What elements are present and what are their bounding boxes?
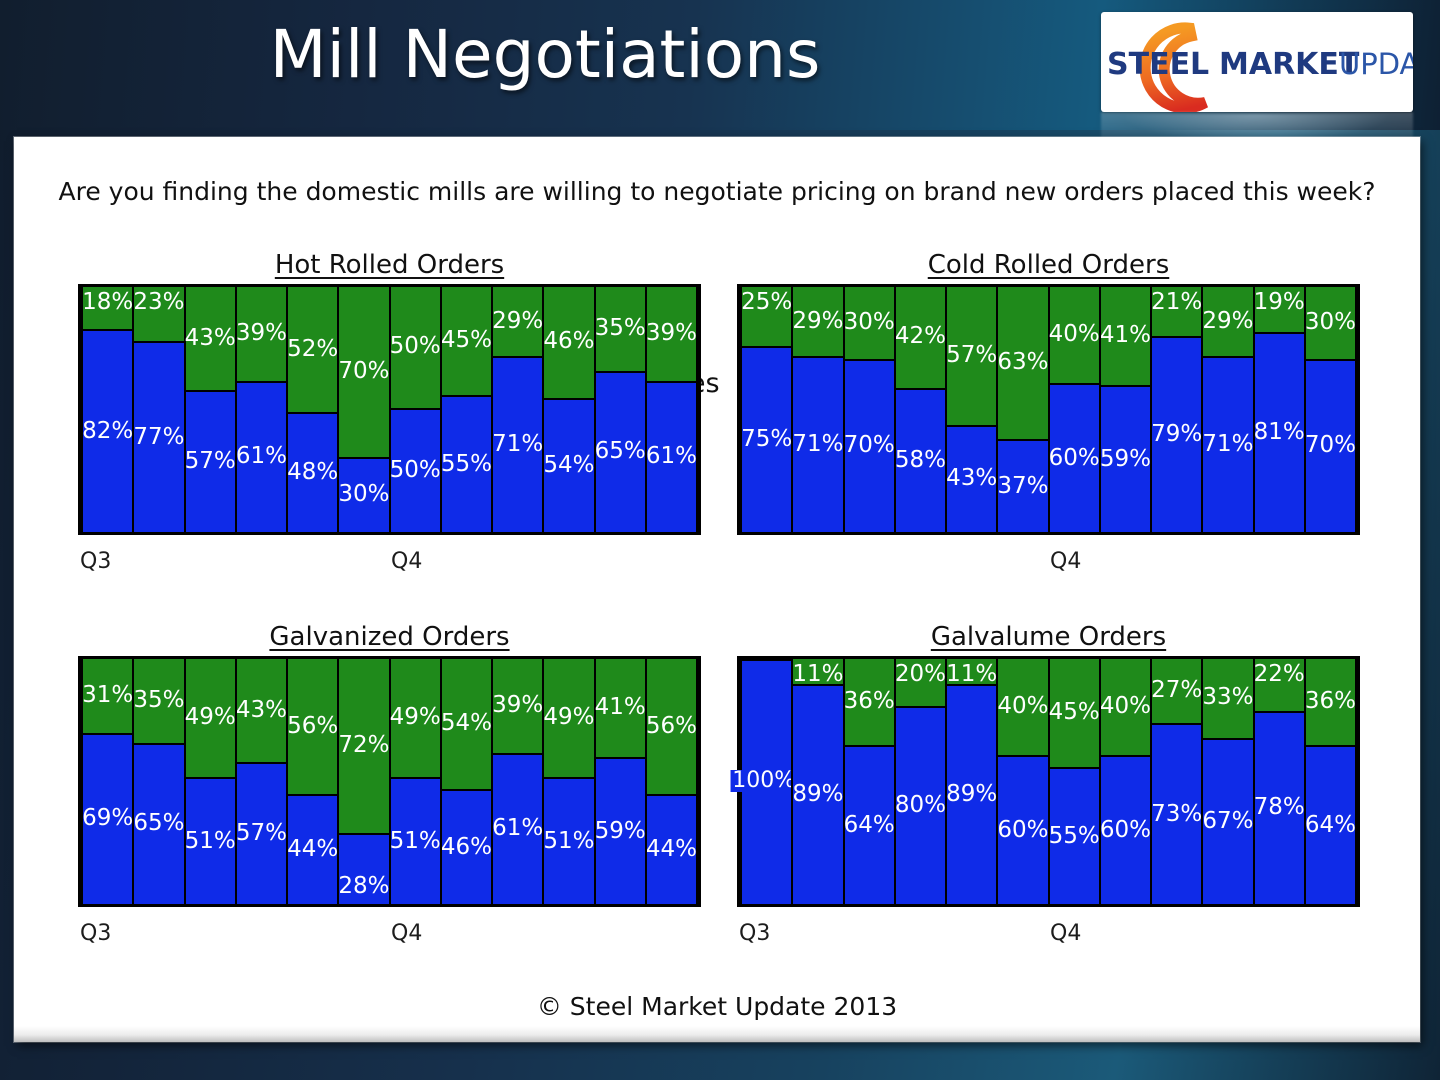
segment-no: 30% bbox=[339, 459, 388, 533]
bar-column: 39%61% bbox=[491, 659, 544, 904]
value-label-no: 67% bbox=[1202, 810, 1253, 833]
value-label-no: 71% bbox=[1202, 433, 1253, 456]
bar-column: 29%71% bbox=[791, 287, 844, 532]
segment-yes: 63% bbox=[998, 287, 1047, 441]
value-label-yes: 39% bbox=[236, 322, 287, 345]
plot-area: 31%69%35%65%49%51%43%57%56%44%72%28%49%5… bbox=[78, 656, 701, 907]
value-label-no: 73% bbox=[1151, 803, 1202, 826]
value-label-yes: 42% bbox=[895, 325, 946, 348]
segment-yes: 40% bbox=[1050, 287, 1099, 385]
bar-column: 70%30% bbox=[337, 287, 390, 532]
bar-column: 54%46% bbox=[440, 659, 493, 904]
segment-no: 46% bbox=[442, 791, 491, 904]
bar-column: 20%80% bbox=[894, 659, 947, 904]
value-label-no: 59% bbox=[595, 820, 646, 843]
chart-title: Galvanized Orders bbox=[78, 622, 701, 652]
value-label-no: 44% bbox=[287, 838, 338, 861]
value-label-no: 54% bbox=[543, 454, 594, 477]
value-label-no: 51% bbox=[390, 830, 441, 853]
bar-column: 39%61% bbox=[235, 287, 288, 532]
bar-column: 39%61% bbox=[645, 287, 698, 532]
chart-title: Cold Rolled Orders bbox=[737, 250, 1360, 280]
bar-column: 23%77% bbox=[132, 287, 185, 532]
value-label-yes: 46% bbox=[543, 330, 594, 353]
bar-column: 36%64% bbox=[1304, 659, 1357, 904]
value-label-no: 55% bbox=[1049, 825, 1100, 848]
bar-column: 50%50% bbox=[389, 287, 442, 532]
segment-yes: 43% bbox=[237, 659, 286, 764]
segment-yes: 36% bbox=[845, 659, 894, 747]
bar-column: 11%89% bbox=[791, 659, 844, 904]
value-label-yes: 29% bbox=[1202, 310, 1253, 333]
value-label-yes: 11% bbox=[792, 663, 843, 686]
segment-no: 71% bbox=[793, 358, 842, 532]
segment-no: 55% bbox=[442, 397, 491, 532]
segment-no: 54% bbox=[544, 400, 593, 532]
bar-column: 33%67% bbox=[1201, 659, 1254, 904]
value-label-no: 64% bbox=[844, 814, 895, 837]
value-label-no: 60% bbox=[997, 819, 1048, 842]
bar-column: 56%44% bbox=[286, 659, 339, 904]
segment-no: 78% bbox=[1255, 713, 1304, 904]
segment-yes: 39% bbox=[493, 659, 542, 755]
bar-column: 43%57% bbox=[184, 287, 237, 532]
value-label-yes: 30% bbox=[1305, 311, 1356, 334]
slide-header: Mill Negotiations STEEL MARKET UPDATE bbox=[0, 0, 1440, 130]
segment-yes: 11% bbox=[947, 659, 996, 686]
value-label-yes: 50% bbox=[390, 335, 441, 358]
segment-yes: 29% bbox=[493, 287, 542, 358]
segment-yes: 40% bbox=[998, 659, 1047, 757]
value-label-no: 75% bbox=[741, 428, 792, 451]
bar-column: 42%58% bbox=[894, 287, 947, 532]
segment-yes: 57% bbox=[947, 287, 996, 427]
axis-label-q3: Q3 bbox=[739, 921, 770, 946]
value-label-no: 100% bbox=[730, 770, 797, 792]
segment-yes: 45% bbox=[442, 287, 491, 397]
chart-galvanized-orders: Galvanized Orders 31%69%35%65%49%51%43%5… bbox=[78, 656, 701, 907]
segment-yes: 39% bbox=[237, 287, 286, 383]
bar-column: 31%69% bbox=[81, 659, 134, 904]
value-label-yes: 56% bbox=[287, 715, 338, 738]
bar-column: 30%70% bbox=[1304, 287, 1357, 532]
segment-no: 51% bbox=[391, 779, 440, 904]
plot-area: 100%11%89%36%64%20%80%11%89%40%60%45%55%… bbox=[737, 656, 1360, 907]
copyright-footer: © Steel Market Update 2013 bbox=[14, 992, 1420, 1021]
survey-question: Are you finding the domestic mills are w… bbox=[14, 177, 1420, 206]
segment-no: 75% bbox=[742, 348, 791, 532]
bar-column: 49%51% bbox=[389, 659, 442, 904]
bar-column: 49%51% bbox=[184, 659, 237, 904]
bar-column: 41%59% bbox=[1099, 287, 1152, 532]
value-label-yes: 20% bbox=[895, 663, 946, 686]
value-label-no: 78% bbox=[1254, 796, 1305, 819]
axis-label-q4: Q4 bbox=[1050, 921, 1081, 946]
value-label-yes: 57% bbox=[946, 344, 997, 367]
axis-label-q4: Q4 bbox=[391, 921, 422, 946]
segment-yes: 29% bbox=[1203, 287, 1252, 358]
segment-no: 79% bbox=[1152, 338, 1201, 532]
segment-yes: 72% bbox=[339, 659, 388, 835]
value-label-yes: 25% bbox=[741, 291, 792, 314]
segment-no: 61% bbox=[647, 383, 696, 532]
segment-no: 82% bbox=[83, 331, 132, 532]
segment-no: 50% bbox=[391, 410, 440, 533]
value-label-no: 82% bbox=[82, 420, 133, 443]
axis-label-q4: Q4 bbox=[1050, 549, 1081, 574]
segment-yes: 35% bbox=[596, 287, 645, 373]
segment-yes: 19% bbox=[1255, 287, 1304, 334]
segment-yes: 18% bbox=[83, 287, 132, 331]
segment-no: 43% bbox=[947, 427, 996, 532]
value-label-yes: 22% bbox=[1254, 663, 1305, 686]
bar-column: 72%28% bbox=[337, 659, 390, 904]
segment-yes: 52% bbox=[288, 287, 337, 414]
value-label-no: 65% bbox=[595, 440, 646, 463]
bar-column: 29%71% bbox=[1201, 287, 1254, 532]
page-title: Mill Negotiations bbox=[0, 16, 1090, 93]
segment-no: 28% bbox=[339, 835, 388, 904]
segment-no: 89% bbox=[947, 686, 996, 904]
segment-yes: 35% bbox=[134, 659, 183, 745]
bar-column: 30%70% bbox=[843, 287, 896, 532]
value-label-no: 50% bbox=[390, 459, 441, 482]
value-label-no: 71% bbox=[792, 433, 843, 456]
segment-no: 44% bbox=[288, 796, 337, 904]
value-label-yes: 54% bbox=[441, 712, 492, 735]
bar-column: 21%79% bbox=[1150, 287, 1203, 532]
segment-yes: 36% bbox=[1306, 659, 1355, 747]
brand-logo: STEEL MARKET UPDATE bbox=[1101, 12, 1413, 112]
value-label-no: 57% bbox=[185, 450, 236, 473]
segment-no: 69% bbox=[83, 735, 132, 904]
logo-word-steel: STEEL bbox=[1107, 47, 1209, 82]
segment-yes: 41% bbox=[1101, 287, 1150, 387]
bar-column: 40%60% bbox=[1048, 287, 1101, 532]
value-label-yes: 40% bbox=[997, 695, 1048, 718]
plot-area: 18%82%23%77%43%57%39%61%52%48%70%30%50%5… bbox=[78, 284, 701, 535]
value-label-no: 60% bbox=[1100, 819, 1151, 842]
value-label-no: 44% bbox=[646, 838, 697, 861]
value-label-yes: 21% bbox=[1151, 291, 1202, 314]
segment-no: 65% bbox=[596, 373, 645, 532]
value-label-yes: 35% bbox=[133, 689, 184, 712]
value-label-yes: 41% bbox=[595, 696, 646, 719]
segment-no: 77% bbox=[134, 343, 183, 532]
value-label-yes: 45% bbox=[441, 329, 492, 352]
segment-no: 71% bbox=[493, 358, 542, 532]
value-label-yes: 52% bbox=[287, 338, 338, 361]
axis-row: Q3 Q4 bbox=[78, 535, 701, 575]
value-label-no: 61% bbox=[236, 445, 287, 468]
value-label-yes: 45% bbox=[1049, 701, 1100, 724]
segment-no: 65% bbox=[134, 745, 183, 904]
value-label-no: 28% bbox=[338, 875, 389, 898]
bar-column: 56%44% bbox=[645, 659, 698, 904]
bar-column: 100% bbox=[740, 659, 793, 904]
value-label-no: 61% bbox=[646, 445, 697, 468]
value-label-yes: 40% bbox=[1100, 695, 1151, 718]
segment-yes: 56% bbox=[288, 659, 337, 796]
value-label-no: 70% bbox=[844, 434, 895, 457]
segment-no: 60% bbox=[1050, 385, 1099, 532]
value-label-yes: 18% bbox=[82, 291, 133, 314]
plot-area: 25%75%29%71%30%70%42%58%57%43%63%37%40%6… bbox=[737, 284, 1360, 535]
value-label-no: 77% bbox=[133, 426, 184, 449]
value-label-yes: 33% bbox=[1202, 686, 1253, 709]
segment-no: 73% bbox=[1152, 725, 1201, 904]
segment-no: 64% bbox=[845, 747, 894, 904]
value-label-yes: 43% bbox=[185, 327, 236, 350]
bar-column: 11%89% bbox=[945, 659, 998, 904]
segment-yes: 22% bbox=[1255, 659, 1304, 713]
segment-yes: 46% bbox=[544, 287, 593, 400]
value-label-no: 70% bbox=[1305, 434, 1356, 457]
axis-label-q4: Q4 bbox=[391, 549, 422, 574]
value-label-no: 89% bbox=[946, 783, 997, 806]
segment-no: 61% bbox=[237, 383, 286, 532]
axis-row: Q4 bbox=[737, 535, 1360, 575]
segment-no: 100% bbox=[742, 661, 791, 904]
segment-yes: 45% bbox=[1050, 659, 1099, 769]
bar-column: 41%59% bbox=[594, 659, 647, 904]
bar-column: 49%51% bbox=[542, 659, 595, 904]
bar-column: 43%57% bbox=[235, 659, 288, 904]
value-label-no: 46% bbox=[441, 836, 492, 859]
bar-column: 63%37% bbox=[996, 287, 1049, 532]
segment-yes: 43% bbox=[186, 287, 235, 392]
value-label-no: 81% bbox=[1254, 421, 1305, 444]
segment-yes: 31% bbox=[83, 659, 132, 735]
value-label-yes: 70% bbox=[338, 360, 389, 383]
bar-column: 57%43% bbox=[945, 287, 998, 532]
segment-yes: 25% bbox=[742, 287, 791, 348]
segment-yes: 70% bbox=[339, 287, 388, 459]
bar-column: 46%54% bbox=[542, 287, 595, 532]
segment-no: 59% bbox=[1101, 387, 1150, 532]
value-label-yes: 36% bbox=[1305, 690, 1356, 713]
value-label-no: 89% bbox=[792, 783, 843, 806]
value-label-no: 57% bbox=[236, 822, 287, 845]
value-label-no: 80% bbox=[895, 794, 946, 817]
bar-column: 35%65% bbox=[132, 659, 185, 904]
bar-column: 19%81% bbox=[1253, 287, 1306, 532]
segment-yes: 21% bbox=[1152, 287, 1201, 338]
segment-yes: 27% bbox=[1152, 659, 1201, 725]
chart-title: Galvalume Orders bbox=[737, 622, 1360, 652]
value-label-yes: 43% bbox=[236, 699, 287, 722]
segment-yes: 41% bbox=[596, 659, 645, 759]
value-label-yes: 63% bbox=[997, 351, 1048, 374]
segment-no: 37% bbox=[998, 441, 1047, 532]
bar-column: 40%60% bbox=[996, 659, 1049, 904]
value-label-yes: 30% bbox=[844, 311, 895, 334]
value-label-yes: 40% bbox=[1049, 323, 1100, 346]
segment-no: 57% bbox=[186, 392, 235, 532]
value-label-yes: 49% bbox=[390, 706, 441, 729]
segment-yes: 20% bbox=[896, 659, 945, 708]
value-label-no: 71% bbox=[492, 433, 543, 456]
value-label-yes: 72% bbox=[338, 734, 389, 757]
segment-no: 71% bbox=[1203, 358, 1252, 532]
bar-column: 25%75% bbox=[740, 287, 793, 532]
value-label-no: 65% bbox=[133, 812, 184, 835]
segment-yes: 11% bbox=[793, 659, 842, 686]
segment-no: 67% bbox=[1203, 740, 1252, 904]
bar-column: 40%60% bbox=[1099, 659, 1152, 904]
bar-column: 35%65% bbox=[594, 287, 647, 532]
value-label-yes: 56% bbox=[646, 715, 697, 738]
axis-label-q3: Q3 bbox=[80, 549, 111, 574]
value-label-yes: 11% bbox=[946, 663, 997, 686]
value-label-no: 51% bbox=[543, 830, 594, 853]
logo-artwork: STEEL MARKET UPDATE bbox=[1101, 12, 1413, 112]
value-label-yes: 49% bbox=[185, 706, 236, 729]
value-label-yes: 49% bbox=[543, 706, 594, 729]
bar-column: 52%48% bbox=[286, 287, 339, 532]
segment-yes: 54% bbox=[442, 659, 491, 791]
segment-no: 44% bbox=[647, 796, 696, 904]
axis-row: Q3 Q4 bbox=[737, 907, 1360, 947]
segment-no: 70% bbox=[1306, 361, 1355, 533]
value-label-yes: 27% bbox=[1151, 679, 1202, 702]
segment-no: 70% bbox=[845, 361, 894, 533]
value-label-yes: 19% bbox=[1254, 291, 1305, 314]
segment-yes: 49% bbox=[544, 659, 593, 779]
value-label-yes: 35% bbox=[595, 317, 646, 340]
segment-no: 89% bbox=[793, 686, 842, 904]
segment-no: 81% bbox=[1255, 334, 1304, 532]
value-label-yes: 39% bbox=[492, 694, 543, 717]
value-label-no: 30% bbox=[338, 483, 389, 506]
segment-yes: 39% bbox=[647, 287, 696, 383]
value-label-no: 69% bbox=[82, 807, 133, 830]
segment-no: 59% bbox=[596, 759, 645, 904]
value-label-no: 58% bbox=[895, 449, 946, 472]
segment-yes: 49% bbox=[391, 659, 440, 779]
segment-no: 57% bbox=[237, 764, 286, 904]
segment-no: 51% bbox=[186, 779, 235, 904]
segment-no: 58% bbox=[896, 390, 945, 532]
chart-hot-rolled-orders: Hot Rolled Orders 18%82%23%77%43%57%39%6… bbox=[78, 284, 701, 535]
segment-no: 51% bbox=[544, 779, 593, 904]
segment-no: 55% bbox=[1050, 769, 1099, 904]
segment-no: 61% bbox=[493, 755, 542, 904]
segment-yes: 50% bbox=[391, 287, 440, 410]
axis-row: Q3 Q4 bbox=[78, 907, 701, 947]
bar-column: 29%71% bbox=[491, 287, 544, 532]
segment-yes: 30% bbox=[1306, 287, 1355, 361]
value-label-no: 37% bbox=[997, 475, 1048, 498]
segment-yes: 30% bbox=[845, 287, 894, 361]
segment-yes: 29% bbox=[793, 287, 842, 358]
value-label-yes: 29% bbox=[792, 310, 843, 333]
value-label-yes: 36% bbox=[844, 690, 895, 713]
slide: Mill Negotiations STEEL MARKET UPDATE bbox=[0, 0, 1440, 1080]
bar-column: 22%78% bbox=[1253, 659, 1306, 904]
segment-no: 80% bbox=[896, 708, 945, 904]
value-label-no: 64% bbox=[1305, 814, 1356, 837]
segment-yes: 23% bbox=[134, 287, 183, 343]
value-label-yes: 41% bbox=[1100, 324, 1151, 347]
value-label-no: 43% bbox=[946, 467, 997, 490]
segment-no: 64% bbox=[1306, 747, 1355, 904]
segment-yes: 42% bbox=[896, 287, 945, 390]
value-label-no: 61% bbox=[492, 817, 543, 840]
segment-no: 60% bbox=[998, 757, 1047, 904]
segment-no: 60% bbox=[1101, 757, 1150, 904]
axis-label-q3: Q3 bbox=[80, 921, 111, 946]
value-label-no: 59% bbox=[1100, 448, 1151, 471]
bar-column: 45%55% bbox=[1048, 659, 1101, 904]
chart-title: Hot Rolled Orders bbox=[78, 250, 701, 280]
bar-column: 27%73% bbox=[1150, 659, 1203, 904]
value-label-yes: 23% bbox=[133, 291, 184, 314]
segment-yes: 49% bbox=[186, 659, 235, 779]
segment-yes: 56% bbox=[647, 659, 696, 796]
value-label-no: 48% bbox=[287, 461, 338, 484]
segment-yes: 33% bbox=[1203, 659, 1252, 740]
value-label-no: 51% bbox=[185, 830, 236, 853]
value-label-no: 79% bbox=[1151, 423, 1202, 446]
value-label-no: 60% bbox=[1049, 447, 1100, 470]
value-label-no: 55% bbox=[441, 453, 492, 476]
bar-column: 45%55% bbox=[440, 287, 493, 532]
bar-column: 36%64% bbox=[843, 659, 896, 904]
bar-column: 18%82% bbox=[81, 287, 134, 532]
value-label-yes: 29% bbox=[492, 310, 543, 333]
segment-no: 48% bbox=[288, 414, 337, 532]
logo-word-update: UPDATE bbox=[1339, 47, 1413, 81]
slide-content-card: Are you finding the domestic mills are w… bbox=[14, 137, 1420, 1042]
value-label-yes: 39% bbox=[646, 322, 697, 345]
chart-cold-rolled-orders: Cold Rolled Orders 25%75%29%71%30%70%42%… bbox=[737, 284, 1360, 535]
segment-yes: 40% bbox=[1101, 659, 1150, 757]
value-label-yes: 31% bbox=[82, 684, 133, 707]
chart-galvalume-orders: Galvalume Orders 100%11%89%36%64%20%80%1… bbox=[737, 656, 1360, 907]
